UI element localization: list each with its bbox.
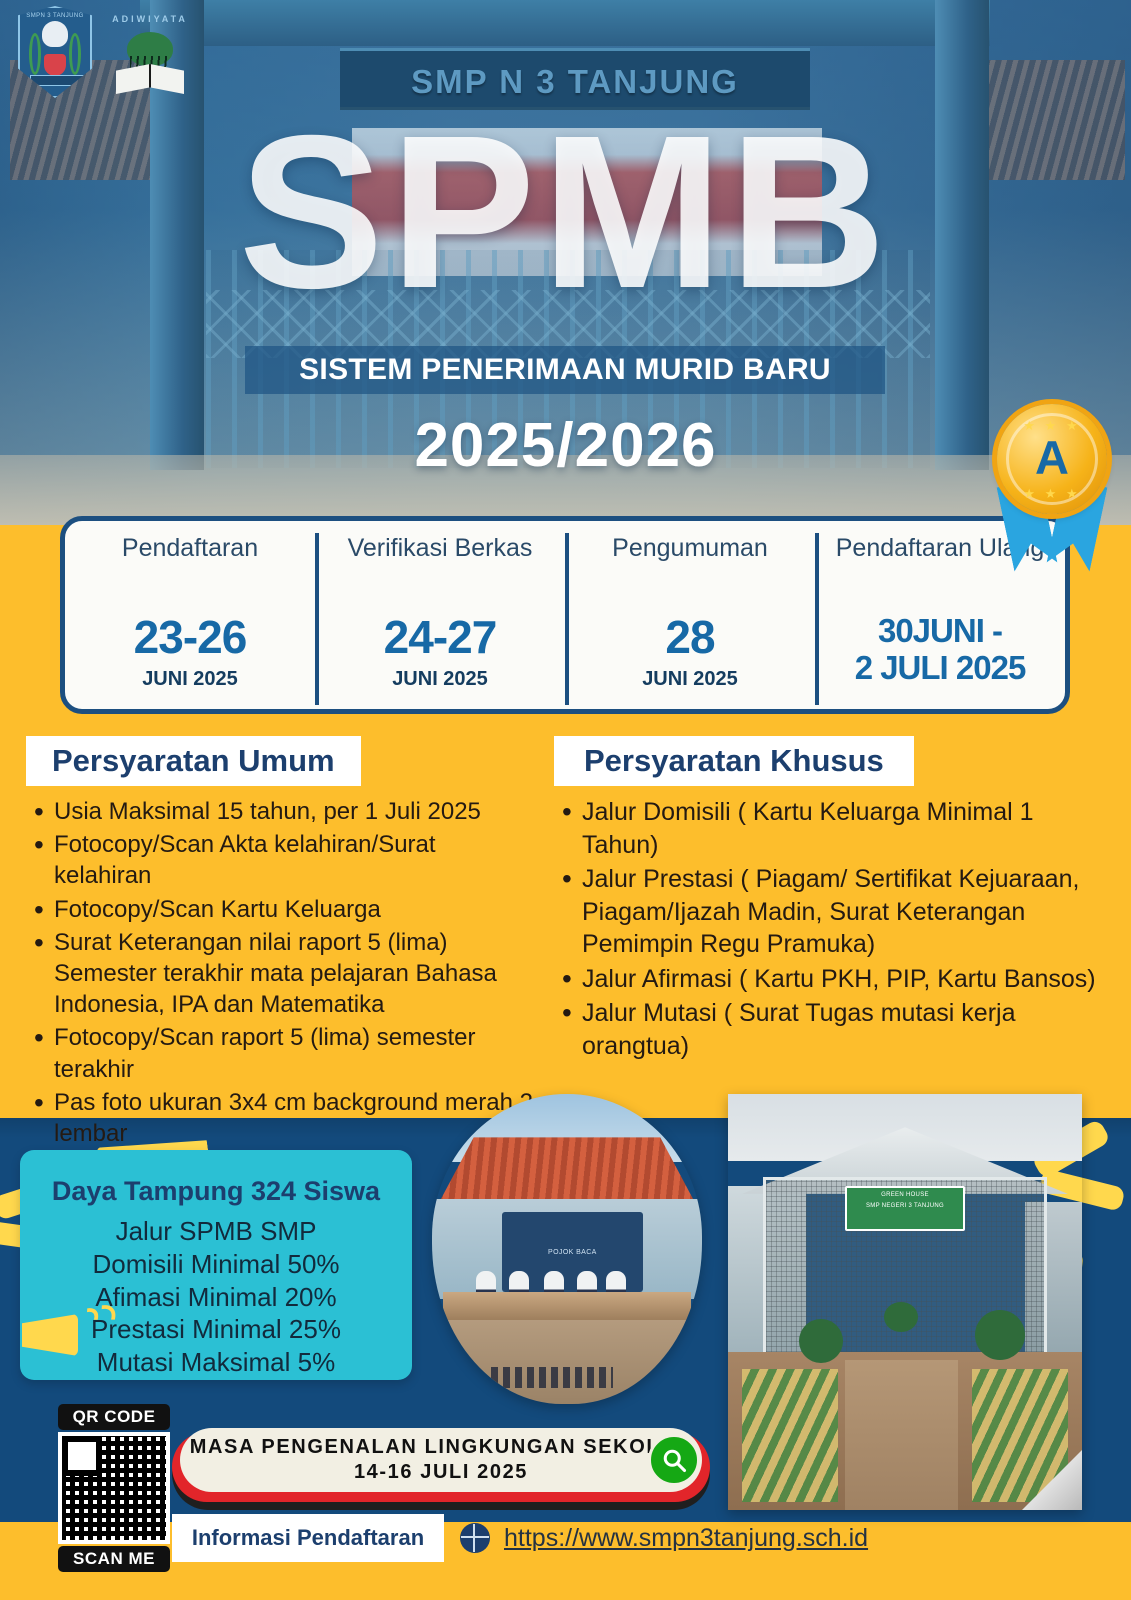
list-item: Usia Maksimal 15 tahun, per 1 Juli 2025 [26, 796, 536, 827]
crest-label: SMPN 3 TANJUNG [20, 13, 90, 19]
sign-line-2: SMP NEGERI 3 TANJUNG [847, 1202, 963, 1210]
green-house-photo: GREEN HOUSE SMP NEGERI 3 TANJUNG [728, 1094, 1082, 1510]
medal-disc: ★ ★ ★ A ★ ★ ★ [997, 404, 1107, 514]
schedule-item-pendaftaran: Pendaftaran 23-26 JUNI 2025 [65, 521, 315, 709]
qr-top-label: QR CODE [58, 1404, 170, 1430]
mpls-banner: MASA PENGENALAN LINGKUNGAN SEKOLAH 14-16… [172, 1428, 710, 1510]
list-item: Fotocopy/Scan Akta kelahiran/Surat kelah… [26, 829, 536, 891]
list-item: Jalur Mutasi ( Surat Tugas mutasi kerja … [554, 997, 1105, 1062]
website-link[interactable]: https://www.smpn3tanjung.sch.id [460, 1514, 868, 1562]
list-item: Fotocopy/Scan Kartu Keluarga [26, 894, 536, 925]
schedule-date: 28 [571, 610, 809, 664]
schedule-date: 30JUNI - 2 JULI 2025 [821, 613, 1059, 687]
list-item: Fotocopy/Scan raport 5 (lima) semester t… [26, 1022, 536, 1084]
megaphone-icon [22, 1296, 108, 1370]
accreditation-badge: ★ ★ ★ A ★ ★ ★ [991, 404, 1113, 594]
qr-bottom-label: SCAN ME [58, 1546, 170, 1572]
subtitle-text: SISTEM PENERIMAAN MURID BARU [245, 346, 885, 394]
info-label-text: Informasi Pendaftaran [192, 1525, 424, 1551]
accreditation-grade: A [997, 430, 1107, 485]
requirements-special: Persyaratan Khusus Jalur Domisili ( Kart… [554, 736, 1105, 1114]
list-item: Jalur Prestasi ( Piagam/ Sertifikat Keju… [554, 863, 1105, 961]
gate-roof [140, 0, 990, 46]
schedule-month: JUNI 2025 [571, 668, 809, 691]
sign-line-1: GREEN HOUSE [847, 1191, 963, 1199]
requirements-general: Persyaratan Umum Usia Maksimal 15 tahun,… [26, 736, 536, 1114]
schedule-month: JUNI 2025 [71, 668, 309, 691]
schedule-item-verifikasi: Verifikasi Berkas 24-27 JUNI 2025 [315, 521, 565, 709]
schedule-label: Pendaftaran [71, 535, 309, 561]
website-url[interactable]: https://www.smpn3tanjung.sch.id [504, 1524, 868, 1553]
academic-year: 2025/2026 [0, 410, 1131, 481]
schedule-label: Verifikasi Berkas [321, 535, 559, 561]
adiwiyata-logo: ADIWIYATA [110, 6, 190, 106]
schedule-item-pengumuman: Pengumuman 28 JUNI 2025 [565, 521, 815, 709]
list-item: Jalur Afirmasi ( Kartu PKH, PIP, Kartu B… [554, 963, 1105, 996]
schedule-date: 23-26 [71, 610, 309, 664]
logo-group: SMPN 3 TANJUNG ADIWIYATA [18, 6, 190, 106]
reading-corner-photo: POJOK BACA PERPUSTAKAAN SMP NEGERI 3 TAN… [432, 1094, 702, 1404]
schedule-card: Pendaftaran 23-26 JUNI 2025 Verifikasi B… [60, 516, 1070, 714]
qr-code-block[interactable]: QR CODE SCAN ME [58, 1404, 170, 1572]
subtitle-bar: SISTEM PENERIMAAN MURID BARU [245, 346, 885, 394]
search-icon[interactable] [648, 1434, 700, 1486]
hero-banner: SMP N 3 TANJUNG SMPN 3 TANJUNG ADIWIYATA… [0, 0, 1131, 525]
page-title: SPMB [0, 104, 1131, 322]
green-house-sign: GREEN HOUSE SMP NEGERI 3 TANJUNG [845, 1186, 965, 1232]
mpls-dates: 14-16 JULI 2025 [354, 1461, 528, 1484]
globe-icon [460, 1523, 490, 1553]
qr-code-image[interactable] [58, 1432, 170, 1544]
mpls-title: MASA PENGENALAN LINGKUNGAN SEKOLAH [190, 1436, 693, 1459]
capacity-line: Jalur SPMB SMP [34, 1215, 398, 1248]
schedule-label: Pengumuman [571, 535, 809, 561]
adiwiyata-label: ADIWIYATA [110, 14, 190, 24]
requirements-section: Persyaratan Umum Usia Maksimal 15 tahun,… [0, 736, 1131, 1114]
requirements-general-heading: Persyaratan Umum [26, 736, 361, 786]
stars-bottom-icon: ★ ★ ★ [997, 486, 1107, 502]
info-label: Informasi Pendaftaran [172, 1514, 444, 1562]
requirements-special-heading: Persyaratan Khusus [554, 736, 914, 786]
schedule-date: 24-27 [321, 610, 559, 664]
list-item: Jalur Domisili ( Kartu Keluarga Minimal … [554, 796, 1105, 861]
list-item: Surat Keterangan nilai raport 5 (lima) S… [26, 927, 536, 1021]
school-crest-logo: SMPN 3 TANJUNG [18, 6, 98, 106]
requirements-special-list: Jalur Domisili ( Kartu Keluarga Minimal … [554, 796, 1105, 1062]
capacity-title: Daya Tampung 324 Siswa [34, 1176, 398, 1207]
capacity-line: Domisili Minimal 50% [34, 1248, 398, 1281]
schedule-month: JUNI 2025 [321, 668, 559, 691]
